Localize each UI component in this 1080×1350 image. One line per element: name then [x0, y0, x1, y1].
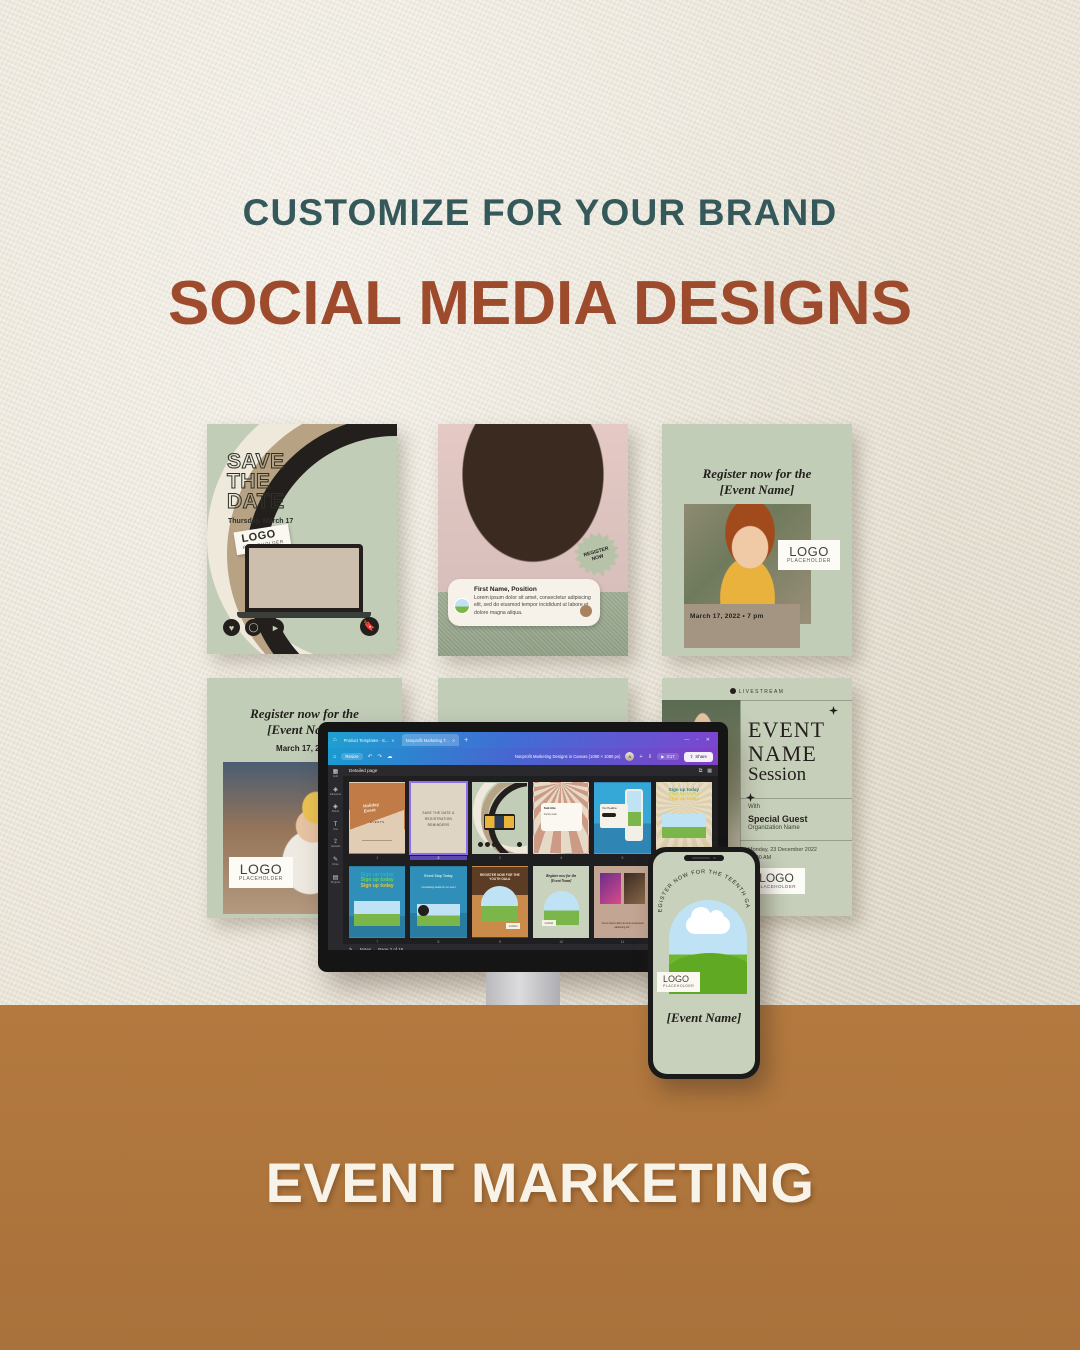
accent-bar [602, 813, 616, 817]
new-tab-button[interactable]: + [464, 737, 468, 744]
logo-placeholder: LOGO [506, 923, 521, 929]
starburst-icon [418, 905, 429, 916]
testimonial-bubble: First Name, Position Lorem ipsum dolor s… [448, 579, 600, 626]
thumbnail-11-quote: "Lorem ipsum dolor sit amet consectetur … [601, 922, 644, 930]
undo-icon[interactable]: ↶ [368, 754, 373, 760]
with-label: With [748, 804, 760, 810]
photo-right [624, 873, 646, 904]
thumbnail-9[interactable]: REGISTER NOW FOR THE YOUTH GALA LOGO [472, 866, 528, 938]
thumbnail-8-sub: Fundraising details for our event [418, 886, 459, 890]
thumbnail-8-title: Event Stop Today [416, 874, 462, 878]
logo-placeholder: LOGO PLACEHOLDER [657, 972, 700, 992]
sidebar-item-elements[interactable]: ◈Elements [330, 787, 341, 797]
banner-title: EVENT MARKETING [0, 1150, 1080, 1215]
photo-three-women [249, 548, 359, 608]
sidebar-item-text-label: Text [333, 829, 338, 832]
sidebar-item-brand-label: Brand [332, 811, 339, 814]
photo-left [600, 873, 622, 904]
logo-placeholder: LOGO [542, 920, 557, 926]
heart-icon[interactable]: ♥ [223, 619, 240, 636]
logo-subtext: PLACEHOLDER [239, 876, 283, 882]
social-icons-row: ♥ ◯ ► [223, 619, 284, 636]
logo-text: LOGO [239, 862, 283, 876]
livestream-dot-icon [730, 688, 736, 694]
thumbnail-4-title: Sub title [544, 806, 556, 810]
list-item[interactable]: Holiday Event EVENTS 1 [349, 782, 405, 860]
sidebar-item-draw[interactable]: ✎Draw [332, 857, 338, 867]
sidebar-item-projects-label: Projects [331, 882, 340, 885]
document-title: Nonprofit Marketing Designs in Canvas (1… [515, 754, 621, 759]
thumbnail-10-text: Register now for the [Event Name] [538, 874, 584, 883]
close-icon[interactable]: ✕ [452, 738, 455, 743]
kicker-heading: CUSTOMIZE FOR YOUR BRAND [0, 192, 1080, 234]
thumbnail-4-number: 4 [560, 856, 562, 860]
list-item[interactable]: Sub title Family Gala 4 [533, 782, 589, 860]
laptop-base [237, 612, 371, 618]
canvas-title: Detailed page [349, 768, 377, 773]
sidebar-item-projects[interactable]: ▤Projects [331, 875, 340, 885]
browser-tab-2[interactable]: Nonprofit Marketing T... ✕ [402, 734, 460, 746]
share-label: Share [695, 754, 707, 759]
thumbnail-5-card: Your Headline [600, 804, 628, 828]
app-toolbar[interactable]: ⌂ Resize ↶ ↷ ☁ Nonprofit Marketing Desig… [328, 748, 718, 765]
sidebar-item-edit-label: Edit [333, 776, 339, 779]
list-item[interactable]: Register now for the [Event Name] LOGO 1… [533, 866, 589, 944]
cloud-save-icon[interactable]: ☁ [387, 754, 393, 760]
card-save-the-date[interactable]: SAVE THE DATE Thursday, March 17 LOGO PL… [207, 424, 397, 654]
event-date: Monday, 23 December 2022 [748, 846, 817, 854]
page-indicator[interactable]: Page 2 of 18 [378, 947, 403, 950]
thumbnail-5-title: Your Headline [602, 807, 617, 810]
logo-subtext: PLACEHOLDER [787, 558, 831, 564]
sidebar-item-uploads-label: Uploads [331, 846, 341, 849]
thumbnail-10-sub: [Event Name] [538, 879, 584, 883]
list-item[interactable]: REGISTER NOW FOR THE YOUTH GALA LOGO 9 [472, 866, 528, 944]
thumbnail-7-title-echo-2: Sign up today [353, 884, 402, 889]
redo-icon[interactable]: ↷ [377, 754, 382, 760]
register-title-line-2: [Event Name] [662, 482, 852, 498]
sidebar-item-text[interactable]: TText [333, 822, 338, 832]
thumbnail-2-text: SAVE THE DATE & REGISTRATION REMINDERS [420, 810, 457, 828]
resize-button[interactable]: Resize [341, 753, 362, 760]
save-line-2: THE [227, 472, 285, 492]
thumbnail-5-number: 5 [622, 856, 624, 860]
thumbnail-4-sub: Family Gala [544, 813, 579, 817]
phone-notch [684, 855, 724, 861]
window-controls[interactable]: — ▫ ✕ [684, 737, 713, 743]
sidebar-item-edit[interactable]: ▦Edit [333, 769, 339, 779]
thumbnail-7-title-stack: Sign up today Sign up today Sign up toda… [353, 873, 402, 889]
comment-icon[interactable]: ◯ [245, 619, 262, 636]
list-item[interactable]: Event Stop Today Fundraising details for… [410, 866, 466, 944]
accent-dot [580, 605, 592, 617]
thumbnail-7[interactable]: Sign up today Sign up today Sign up toda… [349, 866, 405, 938]
event-name-line-1: EVENT [748, 718, 825, 742]
page-title: SOCIAL MEDIA DESIGNS [0, 268, 1080, 339]
diamond-icon [746, 793, 755, 802]
bookmark-icon[interactable]: 🔖 [360, 617, 379, 636]
logo-text: LOGO [787, 545, 831, 558]
thumbnail-3-number: 3 [499, 856, 501, 860]
thumbnail-5[interactable]: Your Headline [594, 782, 650, 854]
avatar[interactable]: A [625, 752, 634, 761]
logo-text: LOGO [663, 975, 694, 984]
share-button[interactable]: ⇧Share [684, 752, 713, 762]
livestream-label: LIVESTREAM [662, 688, 852, 695]
thumbnail-11[interactable]: "Lorem ipsum dolor sit amet consectetur … [594, 866, 650, 938]
save-the-date-text: SAVE THE DATE [227, 452, 285, 512]
left-rail[interactable]: ▦Edit ◈Elements ◈Brand TText ⇪Uploads ✎D… [328, 765, 343, 950]
list-item[interactable]: SAVE THE DATE & REGISTRATION REMINDERS 2 [410, 782, 466, 860]
register-title-line-1: Register now for the [662, 466, 852, 482]
thumbnail-4[interactable]: Sub title Family Gala [533, 782, 589, 854]
sidebar-item-brand[interactable]: ◈Brand [332, 804, 339, 814]
thumbnail-4-card: Sub title Family Gala [541, 803, 582, 831]
thumbnail-6[interactable]: Sign up today Sign up today Sign up toda… [656, 782, 712, 854]
thumbnail-2-sub: REGISTRATION REMINDERS [420, 816, 457, 828]
sidebar-item-uploads[interactable]: ⇪Uploads [331, 839, 341, 849]
testimonial-name: First Name, Position [474, 586, 591, 593]
arch-illustration [481, 886, 518, 922]
send-icon[interactable]: ► [267, 619, 284, 636]
save-line-1: SAVE [227, 452, 285, 472]
register-title-line-1: Register now for the [207, 706, 402, 722]
browser-tab-bar[interactable]: ⌂ Product Templates - S... ✕ Nonprofit M… [328, 732, 718, 748]
thumbnail-2-number: 2 [410, 856, 466, 860]
cloud-icon [686, 916, 730, 934]
thumbnail-1-number: 1 [376, 856, 378, 860]
event-name: EVENT NAME [748, 718, 825, 766]
present-timer: 3:17 [666, 754, 674, 759]
thumbnail-10[interactable]: Register now for the [Event Name] LOGO [533, 866, 589, 938]
thumbnail-3[interactable] [472, 782, 528, 854]
thumbnail-1[interactable]: Holiday Event EVENTS [349, 782, 405, 854]
browser-tab-1-label: Product Templates - S... [344, 738, 389, 743]
livestream-text: LIVESTREAM [739, 689, 785, 695]
list-item[interactable]: Sign up today Sign up today Sign up toda… [349, 866, 405, 944]
browser-tab-2-label: Nonprofit Marketing T... [406, 738, 449, 743]
thumbnail-1-sub: EVENTS [370, 820, 384, 824]
thumbnail-9-title: REGISTER NOW FOR THE YOUTH GALA [477, 873, 523, 881]
canvas-header: Detailed page ⧉ ▦ [343, 765, 718, 776]
desk-bar [684, 604, 800, 648]
sidebar-item-elements-label: Elements [330, 794, 341, 797]
notes-icon[interactable]: ✎ [349, 947, 353, 950]
thumbnail-2[interactable]: SAVE THE DATE & REGISTRATION REMINDERS [410, 782, 466, 854]
card-register-now-top[interactable]: Register now for the [Event Name] March … [662, 424, 852, 656]
laptop-mockup [245, 544, 363, 618]
social-icons [478, 842, 497, 847]
logo-placeholder: LOGO PLACEHOLDER [229, 857, 293, 888]
diamond-icon [829, 706, 838, 715]
logo-subtext: PLACEHOLDER [663, 984, 694, 988]
thumbnail-6-title-echo-2: Sign up today [660, 797, 708, 802]
logo-placeholder: LOGO PLACEHOLDER [778, 540, 840, 570]
add-collaborator-button[interactable]: + [639, 754, 642, 760]
logo-subtext: PLACEHOLDER [757, 884, 796, 889]
event-name: [Event Name] [653, 1010, 755, 1026]
event-date: March 17, 2022 • 7 pm [690, 613, 764, 620]
grid-view-icon[interactable]: ▦ [707, 768, 712, 774]
phone-mockup: REGISTER NOW FOR THE TEENTH GALA LOGO PL… [648, 847, 760, 1079]
list-item[interactable]: Your Headline 5 [594, 782, 650, 860]
sidebar-item-draw-label: Draw [332, 864, 338, 867]
phone-screen[interactable]: REGISTER NOW FOR THE TEENTH GALA LOGO PL… [653, 852, 755, 1074]
logo-text: LOGO [757, 872, 796, 884]
thumbnail-8[interactable]: Event Stop Today Fundraising details for… [410, 866, 466, 938]
organization-name: Organization Name [748, 825, 800, 831]
register-title: Register now for the [Event Name] [662, 466, 852, 497]
notes-label[interactable]: Notes [360, 947, 371, 950]
present-button[interactable]: ▶3:17 [657, 753, 678, 760]
event-name-line-2: NAME [748, 742, 825, 766]
save-line-3: DATE [227, 492, 285, 512]
divider [362, 840, 392, 841]
special-guest-name: Special Guest [748, 814, 808, 824]
list-item[interactable]: 3 [472, 782, 528, 860]
browser-home-icon[interactable]: ⌂ [333, 737, 337, 743]
session-label: Session [748, 764, 806, 786]
testimonial-body: Lorem ipsum dolor sit amet, consectetur … [474, 595, 591, 618]
card-testimonial[interactable]: REGISTER NOW First Name, Position Lorem … [438, 424, 628, 656]
list-item[interactable]: "Lorem ipsum dolor sit amet consectetur … [594, 866, 650, 944]
canvas-header-actions[interactable]: ⧉ ▦ [699, 768, 712, 774]
avatar [454, 598, 470, 614]
landscape-illustration [354, 901, 400, 926]
duplicate-icon[interactable]: ⧉ [699, 768, 703, 774]
home-icon[interactable]: ⌂ [333, 754, 336, 760]
landscape-illustration [662, 814, 705, 838]
thumbnail-6-title-stack: Sign up today Sign up today Sign up toda… [660, 788, 708, 802]
browser-tab-1[interactable]: Product Templates - S... ✕ [340, 734, 399, 746]
laptop-screen [245, 544, 363, 612]
laptop-icon [484, 814, 516, 829]
thumbnail-1-title: Holiday Event [363, 800, 391, 813]
download-icon[interactable]: ⇩ [648, 754, 653, 760]
close-icon[interactable]: ✕ [391, 738, 394, 743]
bookmark-icon [517, 842, 522, 847]
